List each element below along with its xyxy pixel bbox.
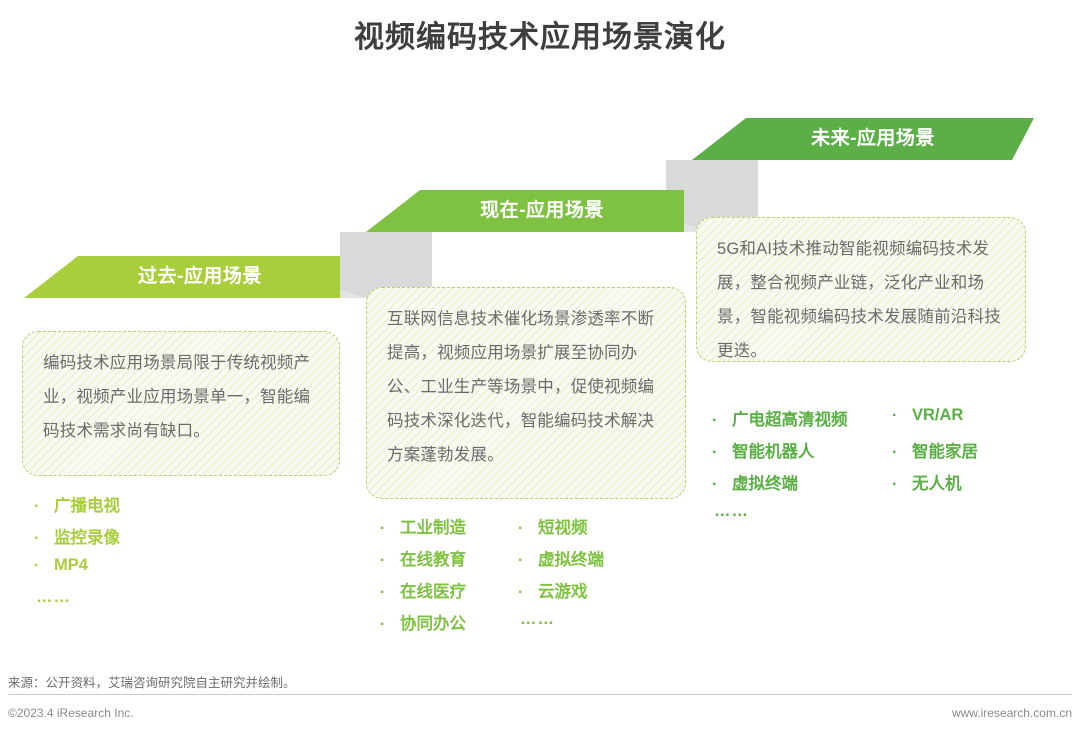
list-item: · 短视频 — [518, 514, 656, 546]
list-item-label: 广播电视 — [54, 492, 120, 516]
list-item: · 在线医疗 — [380, 578, 518, 610]
list-item-label: 虚拟终端 — [538, 546, 604, 570]
list-item: · 广电超高清视频 — [712, 406, 892, 438]
infographic-stage: 过去-应用场景 编码技术应用场景局限于传统视频产业，视频产业应用场景单一，智能编… — [0, 0, 1080, 660]
list-item-label: 监控录像 — [54, 524, 120, 548]
bullet-dot-icon: · — [518, 584, 538, 602]
bullet-column: · 工业制造 · 在线教育 · 在线医疗 · 协同办公 — [380, 514, 518, 642]
bullet-dot-icon: · — [892, 407, 912, 425]
bullet-dot-icon: · — [380, 584, 400, 602]
bullet-dot-icon: · — [712, 412, 732, 430]
list-item-label: VR/AR — [912, 406, 963, 425]
list-item: · 监控录像 — [34, 524, 204, 556]
step-banner-now: 现在-应用场景 — [366, 190, 684, 232]
bullet-dot-icon: · — [34, 557, 54, 575]
list-item: · 智能机器人 — [712, 438, 892, 470]
list-item: · 无人机 — [892, 470, 1072, 502]
bullet-dot-icon: · — [712, 444, 732, 462]
bullet-column: · 广电超高清视频 · 智能机器人 · 虚拟终端 …… — [712, 406, 892, 534]
step-description-future: 5G和AI技术推动智能视频编码技术发展，整合视频产业链，泛化产业和场景，智能视频… — [696, 217, 1026, 362]
list-item-label: 无人机 — [912, 470, 962, 494]
list-item: · 协同办公 — [380, 610, 518, 642]
bullet-column: · VR/AR · 智能家居 · 无人机 — [892, 406, 1072, 534]
step-bullets-past: · 广播电视 · 监控录像 · MP4 …… — [34, 492, 204, 620]
footer-divider — [8, 694, 1072, 695]
list-item: · 虚拟终端 — [712, 470, 892, 502]
list-item: · 工业制造 — [380, 514, 518, 546]
bullet-dot-icon: · — [892, 476, 912, 494]
bullet-column: · 短视频 · 虚拟终端 · 云游戏 …… — [518, 514, 656, 642]
list-item-label: 虚拟终端 — [732, 470, 798, 494]
bullet-dot-icon: · — [712, 476, 732, 494]
list-item-label: 智能机器人 — [732, 438, 815, 462]
bullet-dot-icon: · — [380, 520, 400, 538]
step-description-past: 编码技术应用场景局限于传统视频产业，视频产业应用场景单一，智能编码技术需求尚有缺… — [22, 331, 340, 476]
bullet-dot-icon: · — [518, 520, 538, 538]
list-item-label: 短视频 — [538, 514, 588, 538]
step-description-now: 互联网信息技术催化场景渗透率不断提高，视频应用场景扩展至协同办公、工业生产等场景… — [366, 287, 686, 499]
list-item-label: 工业制造 — [400, 514, 466, 538]
list-item: · 智能家居 — [892, 438, 1072, 470]
step-bullets-now: · 工业制造 · 在线教育 · 在线医疗 · 协同办公 · 短视频 · — [380, 514, 656, 642]
source-note: 来源：公开资料，艾瑞咨询研究院自主研究并绘制。 — [8, 672, 296, 691]
list-item-label: 云游戏 — [538, 578, 588, 602]
list-item: · 虚拟终端 — [518, 546, 656, 578]
list-item-label: MP4 — [54, 556, 88, 575]
list-ellipsis: …… — [34, 588, 204, 620]
bullet-dot-icon: · — [518, 552, 538, 570]
bullet-dot-icon: · — [34, 498, 54, 516]
list-ellipsis: …… — [712, 502, 892, 534]
footer-copyright: ©2023.4 iResearch Inc. — [8, 706, 134, 720]
list-item: · MP4 — [34, 556, 204, 588]
list-item-label: 广电超高清视频 — [732, 406, 848, 430]
list-item-label: 协同办公 — [400, 610, 466, 634]
list-item: · 广播电视 — [34, 492, 204, 524]
bullet-dot-icon: · — [380, 616, 400, 634]
step-bullets-future: · 广电超高清视频 · 智能机器人 · 虚拟终端 …… · VR/AR · 智能… — [712, 406, 1072, 534]
bullet-dot-icon: · — [380, 552, 400, 570]
bullet-dot-icon: · — [34, 530, 54, 548]
list-item: · VR/AR — [892, 406, 1072, 438]
bullet-dot-icon: · — [892, 444, 912, 462]
list-ellipsis: …… — [518, 610, 656, 642]
list-item-label: 智能家居 — [912, 438, 978, 462]
list-item: · 云游戏 — [518, 578, 656, 610]
step-banner-past: 过去-应用场景 — [24, 256, 340, 298]
bullet-column: · 广播电视 · 监控录像 · MP4 …… — [34, 492, 204, 620]
list-item-label: 在线医疗 — [400, 578, 466, 602]
footer-website: www.iresearch.com.cn — [952, 706, 1072, 720]
step-banner-future: 未来-应用场景 — [692, 118, 1034, 160]
list-item: · 在线教育 — [380, 546, 518, 578]
list-item-label: 在线教育 — [400, 546, 466, 570]
